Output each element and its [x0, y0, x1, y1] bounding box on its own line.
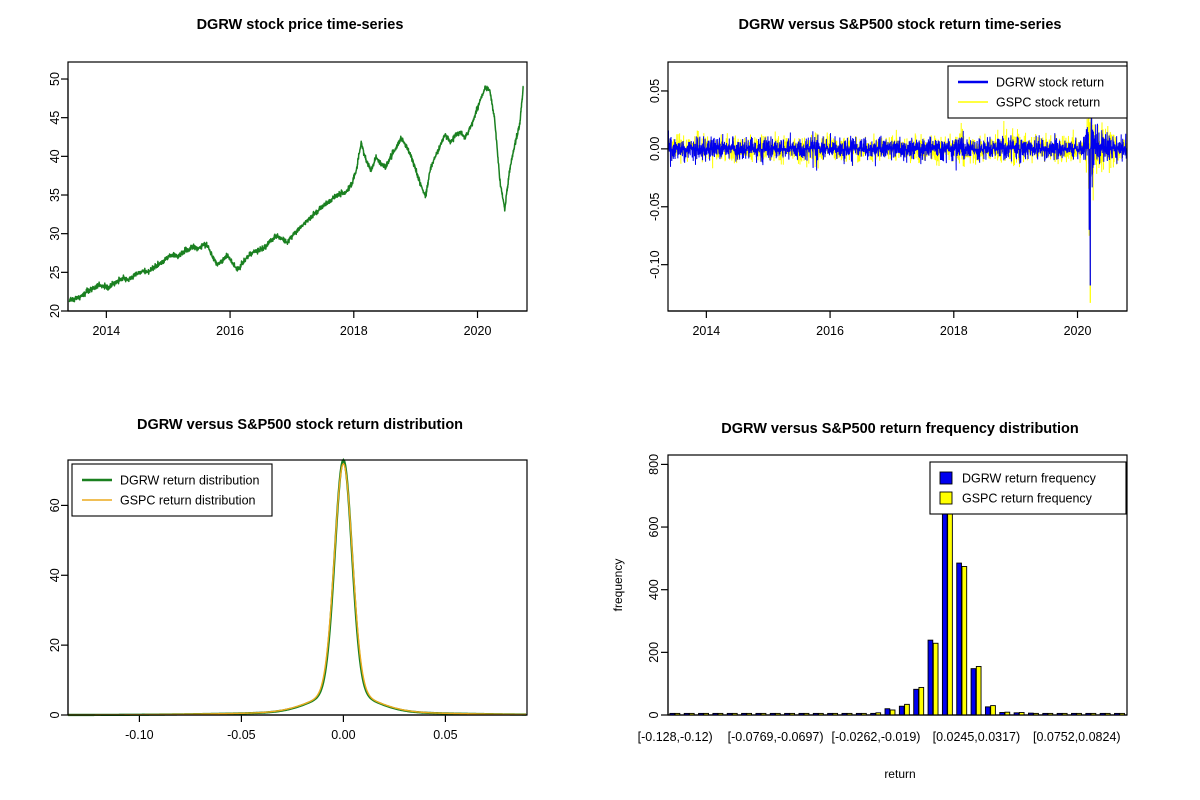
bar-dgrw: [957, 563, 962, 715]
y-tick-label: 400: [647, 579, 661, 600]
y-tick-label: 60: [48, 498, 62, 512]
y-tick-label: 20: [48, 304, 62, 318]
x-tick-label: -0.05: [227, 728, 256, 742]
legend-label: DGRW return frequency: [962, 472, 1097, 486]
plot-returns: DGRW versus S&P500 stock return time-ser…: [600, 0, 1200, 400]
x-tick-label: [-0.128,-0.12): [638, 730, 713, 744]
y-tick-label: 25: [48, 265, 62, 279]
x-tick-label: 2016: [216, 324, 244, 338]
legend-label: GSPC stock return: [996, 96, 1100, 110]
plot-density: DGRW versus S&P500 stock return distribu…: [0, 400, 600, 800]
y-tick-label: 50: [48, 72, 62, 86]
return-line-dgrw: [668, 96, 1127, 286]
bar-dgrw: [971, 669, 976, 715]
legend-swatch: [940, 472, 952, 484]
y-axis-label: frequency: [611, 559, 625, 612]
y-tick-label: 30: [48, 227, 62, 241]
legend-label: DGRW return distribution: [120, 474, 259, 488]
panel-return-frequency: DGRW versus S&P500 return frequency dist…: [600, 400, 1200, 800]
plot-frequency: DGRW versus S&P500 return frequency dist…: [600, 400, 1200, 800]
y-tick-label: -0.05: [648, 192, 662, 221]
y-tick-label: 600: [647, 517, 661, 538]
bar-gspc: [991, 706, 996, 715]
x-tick-label: 2018: [340, 324, 368, 338]
bar-dgrw: [885, 709, 890, 715]
x-tick-label: 2020: [464, 324, 492, 338]
y-tick-label: 20: [48, 638, 62, 652]
legend-label: GSPC return distribution: [120, 494, 256, 508]
x-tick-label: [-0.0769,-0.0697): [728, 730, 824, 744]
y-tick-label: 0.05: [648, 79, 662, 103]
y-tick-label: 0: [48, 711, 62, 718]
bar-dgrw: [928, 640, 933, 715]
bar-dgrw: [985, 707, 990, 715]
x-tick-label: 0.00: [331, 728, 355, 742]
legend-box: [72, 464, 272, 516]
y-tick-label: 45: [48, 111, 62, 125]
panel-title-price: DGRW stock price time-series: [197, 17, 404, 33]
x-tick-label: 2014: [692, 324, 720, 338]
bar-gspc: [933, 643, 938, 715]
y-tick-label: 35: [48, 188, 62, 202]
y-tick-label: 40: [48, 568, 62, 582]
x-tick-label: 0.05: [433, 728, 457, 742]
panel-return-distribution: DGRW versus S&P500 stock return distribu…: [0, 400, 600, 800]
bar-gspc: [962, 567, 967, 715]
y-tick-label: 800: [647, 454, 661, 475]
x-tick-label: 2020: [1064, 324, 1092, 338]
panel-dgrw-price-timeseries: DGRW stock price time-series 20142016201…: [0, 0, 600, 400]
bar-gspc: [919, 687, 924, 715]
legend-swatch: [940, 492, 952, 504]
y-tick-label: 200: [647, 642, 661, 663]
x-tick-label: 2014: [92, 324, 120, 338]
legend-box: [948, 66, 1127, 118]
x-tick-label: 2018: [940, 324, 968, 338]
legend-distribution[interactable]: DGRW return distributionGSPC return dist…: [72, 464, 272, 516]
panel-title-returns: DGRW versus S&P500 stock return time-ser…: [739, 17, 1062, 33]
y-tick-label: -0.10: [648, 250, 662, 279]
legend-frequency[interactable]: DGRW return frequencyGSPC return frequen…: [930, 462, 1126, 514]
y-tick-label: 0.00: [648, 137, 662, 161]
x-tick-label: 2016: [816, 324, 844, 338]
legend-returns[interactable]: DGRW stock returnGSPC stock return: [948, 66, 1127, 118]
y-tick-label: 0: [647, 711, 661, 718]
panel-title-frequency: DGRW versus S&P500 return frequency dist…: [721, 421, 1078, 437]
bar-gspc: [890, 710, 895, 715]
figure-canvas: DGRW stock price time-series 20142016201…: [0, 0, 1200, 800]
x-axis-label: return: [884, 767, 915, 781]
bar-dgrw: [914, 689, 919, 715]
bar-dgrw: [899, 706, 904, 715]
legend-label: GSPC return frequency: [962, 492, 1093, 506]
plot-dgrw-price: DGRW stock price time-series 20142016201…: [0, 0, 600, 400]
panel-return-timeseries: DGRW versus S&P500 stock return time-ser…: [600, 0, 1200, 400]
x-tick-label: -0.10: [125, 728, 154, 742]
x-tick-label: [-0.0262,-0.019): [832, 730, 921, 744]
legend-label: DGRW stock return: [996, 76, 1104, 90]
x-tick-label: [0.0245,0.0317): [933, 730, 1021, 744]
price-line-dgrw: [69, 86, 523, 302]
y-tick-label: 40: [48, 149, 62, 163]
bar-gspc: [905, 704, 910, 715]
x-tick-label: [0.0752,0.0824): [1033, 730, 1121, 744]
panel-title-distribution: DGRW versus S&P500 stock return distribu…: [137, 417, 463, 433]
bar-gspc: [976, 666, 981, 715]
legend-box: [930, 462, 1126, 514]
